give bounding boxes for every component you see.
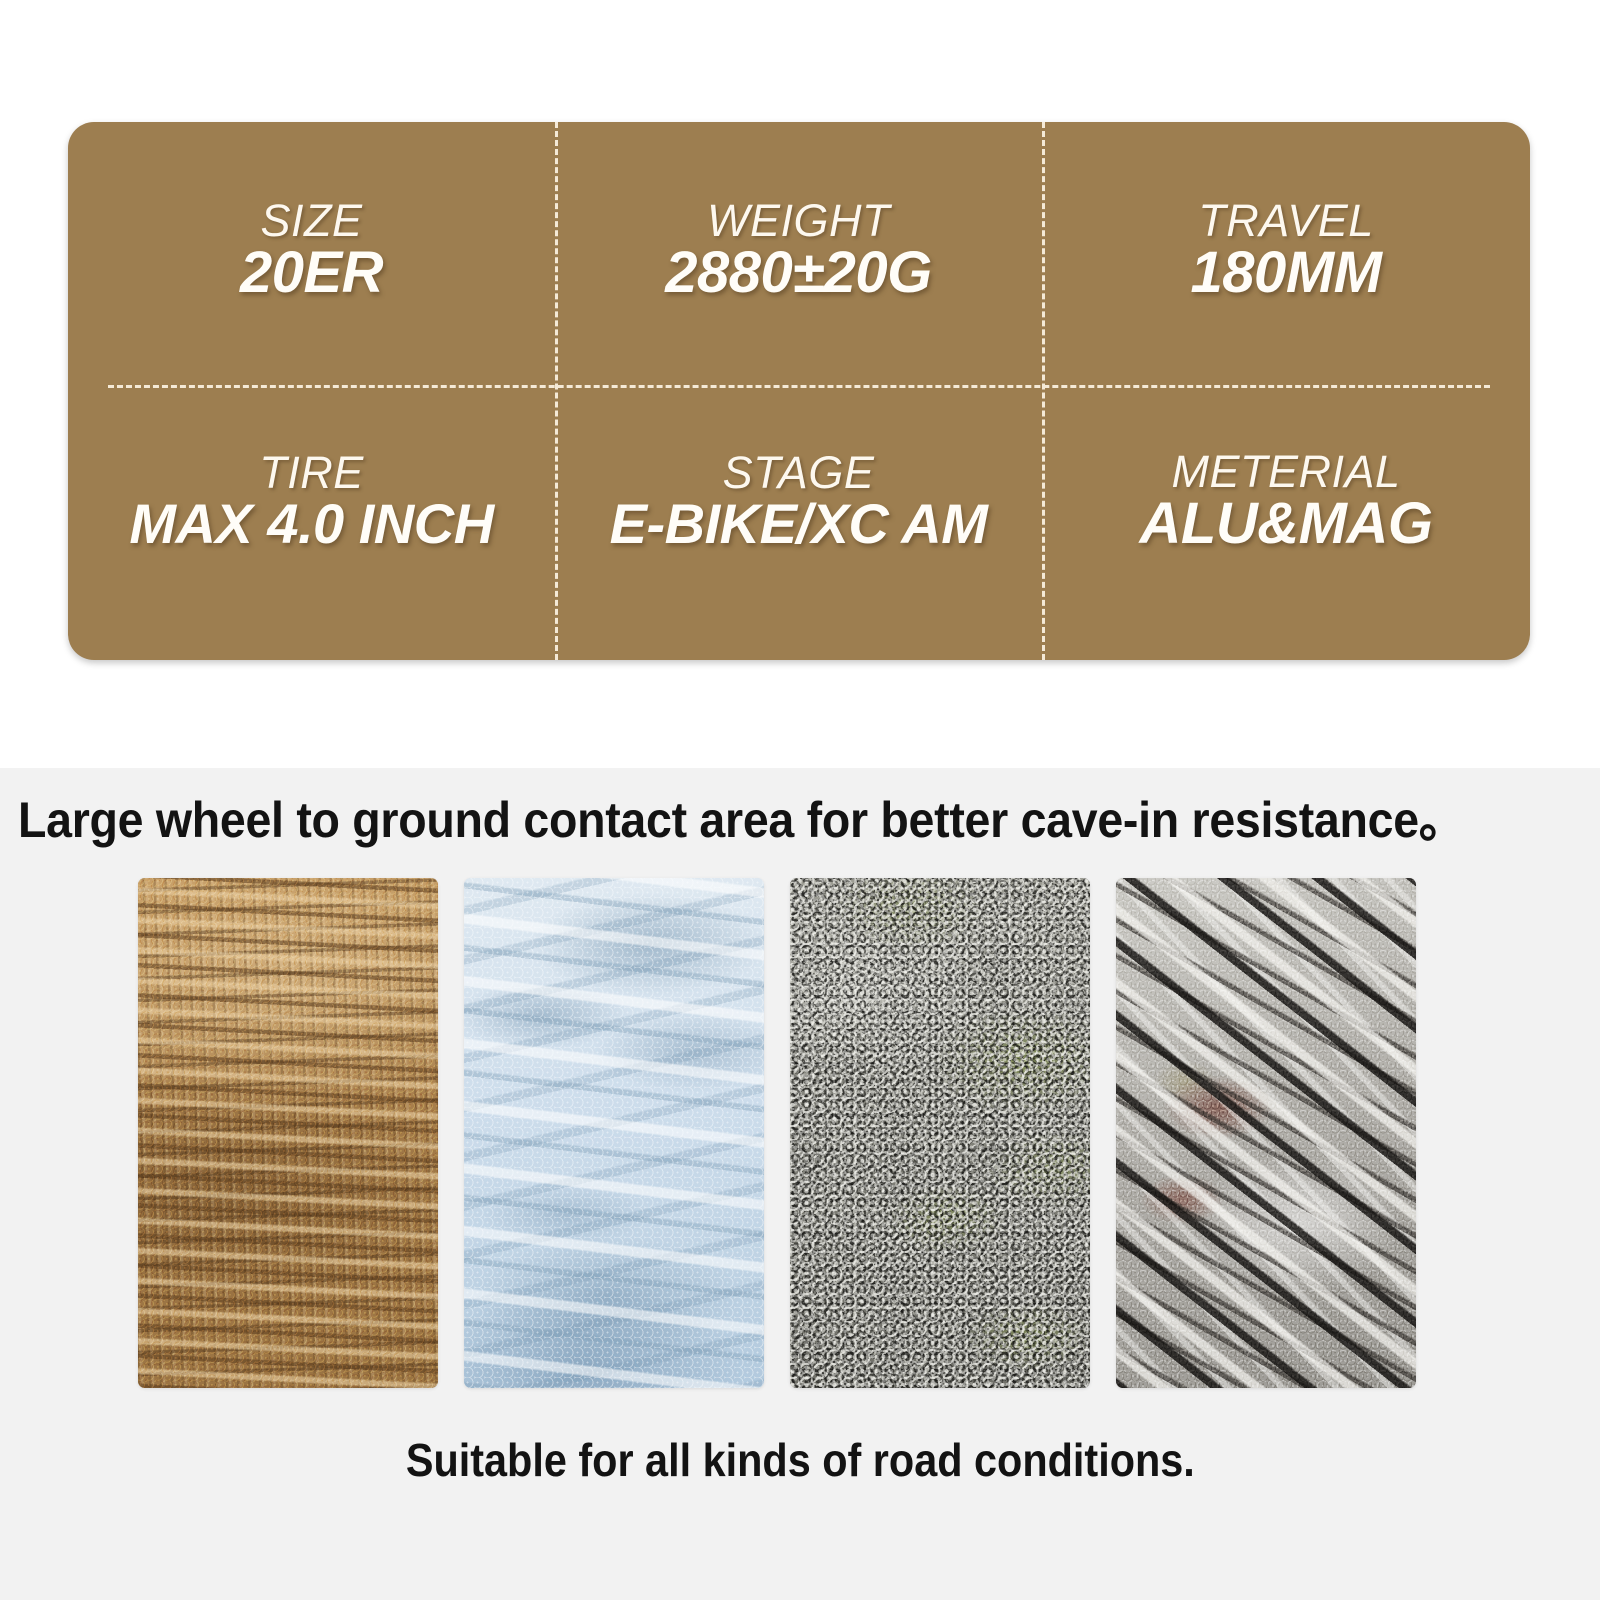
snow-texture — [464, 878, 764, 1388]
terrain-image-rock — [1116, 878, 1416, 1388]
spec-cell-stage: STAGE E-BIKE/XC AM — [555, 385, 1042, 660]
spec-cell-weight: WEIGHT 2880±20G — [555, 122, 1042, 385]
spec-divider-vertical-left — [555, 122, 558, 660]
spec-cell-size: SIZE 20ER — [68, 122, 555, 385]
terrain-gallery — [138, 878, 1458, 1388]
spec-label-stage: STAGE — [723, 451, 875, 495]
terrain-image-gravel — [790, 878, 1090, 1388]
spec-cell-travel: TRAVEL 180MM — [1042, 122, 1530, 385]
terrain-section: Large wheel to ground contact area for b… — [0, 768, 1600, 1600]
spec-value-tire: MAX 4.0 INCH — [129, 496, 493, 552]
spec-divider-horizontal — [108, 385, 1490, 388]
spec-section: SIZE 20ER WEIGHT 2880±20G TRAVEL 180MM T… — [0, 0, 1600, 760]
terrain-image-sand — [138, 878, 438, 1388]
spec-label-weight: WEIGHT — [707, 199, 890, 243]
rock-texture — [1116, 878, 1416, 1388]
spec-divider-vertical-right — [1042, 122, 1045, 660]
sand-texture — [138, 878, 438, 1388]
terrain-image-snow — [464, 878, 764, 1388]
spec-label-meterial: METERIAL — [1171, 450, 1400, 494]
spec-grid: SIZE 20ER WEIGHT 2880±20G TRAVEL 180MM T… — [68, 122, 1530, 660]
spec-value-weight: 2880±20G — [665, 244, 932, 302]
spec-value-size: 20ER — [240, 244, 383, 302]
spec-label-size: SIZE — [260, 199, 362, 243]
gravel-texture — [790, 878, 1090, 1388]
spec-label-tire: TIRE — [259, 451, 364, 495]
terrain-headline: Large wheel to ground contact area for b… — [18, 794, 1478, 847]
spec-cell-meterial: METERIAL ALU&MAG — [1042, 385, 1530, 660]
spec-value-travel: 180MM — [1191, 244, 1382, 302]
spec-label-travel: TRAVEL — [1198, 199, 1374, 243]
spec-value-stage: E-BIKE/XC AM — [610, 496, 988, 552]
terrain-caption: Suitable for all kinds of road condition… — [0, 1436, 1600, 1484]
spec-cell-tire: TIRE MAX 4.0 INCH — [68, 385, 555, 660]
spec-card: SIZE 20ER WEIGHT 2880±20G TRAVEL 180MM T… — [68, 122, 1530, 660]
spec-value-meterial: ALU&MAG — [1140, 495, 1433, 553]
terrain-caption-text: Suitable for all kinds of road condition… — [406, 1436, 1195, 1484]
